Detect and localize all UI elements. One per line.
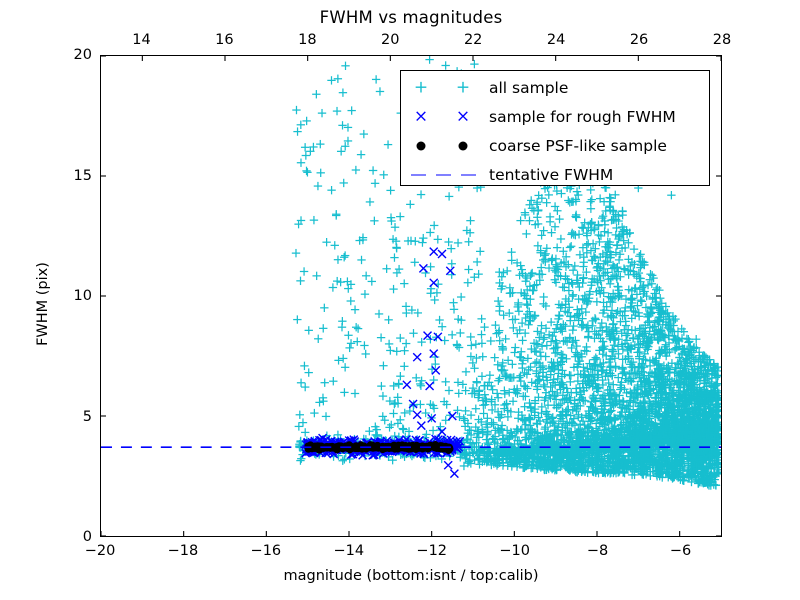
plus-marker-icon: +: [456, 79, 470, 96]
x-tick-top: 14: [132, 32, 150, 48]
y-tick: 10: [54, 288, 92, 304]
y-tick: 5: [54, 409, 92, 425]
x-tick-bottom: −8: [587, 543, 608, 559]
legend-marker-group: [401, 131, 489, 160]
y-axis-label: FWHM (pix): [35, 214, 51, 394]
legend-label-all-sample: all sample: [489, 79, 568, 97]
dashed-line-icon: [461, 174, 476, 175]
dashed-line-icon: [436, 174, 451, 175]
y-tick: 20: [54, 47, 92, 63]
legend-item-tentative-fwhm[interactable]: tentative FWHM: [401, 160, 709, 189]
legend-label-tentative-fwhm: tentative FWHM: [489, 166, 613, 184]
plus-marker-icon: +: [414, 79, 428, 96]
legend-item-all-sample[interactable]: + + all sample: [401, 73, 709, 102]
x-tick-top: 24: [547, 32, 565, 48]
x-tick-bottom: −10: [499, 543, 530, 559]
legend-marker-group: × ×: [401, 102, 489, 131]
x-tick-top: 28: [713, 32, 731, 48]
cross-marker-icon: ×: [414, 108, 428, 125]
legend-label-rough-fwhm: sample for rough FWHM: [489, 108, 676, 126]
x-tick-top: 16: [215, 32, 233, 48]
x-tick-bottom: −14: [333, 543, 364, 559]
x-tick-bottom: −6: [670, 543, 691, 559]
cross-marker-icon: ×: [456, 108, 470, 125]
x-tick-bottom: −20: [85, 543, 116, 559]
chart-legend[interactable]: + + all sample × × sample for rough FWHM…: [400, 70, 710, 186]
x-tick-top: 26: [630, 32, 648, 48]
y-tick: 15: [54, 168, 92, 184]
dot-marker-icon: [417, 141, 426, 150]
legend-marker-group: [401, 160, 489, 189]
chart-title: FWHM vs magnitudes: [100, 8, 722, 27]
legend-item-psf-sample[interactable]: coarse PSF-like sample: [401, 131, 709, 160]
dashed-line-icon: [411, 174, 426, 175]
x-tick-bottom: −12: [416, 543, 447, 559]
legend-marker-group: + +: [401, 73, 489, 102]
x-tick-top: 20: [381, 32, 399, 48]
legend-item-rough-fwhm[interactable]: × × sample for rough FWHM: [401, 102, 709, 131]
x-tick-top: 18: [298, 32, 316, 48]
figure-canvas: FWHM vs magnitudes −20−18−16−14−12−10−8−…: [0, 0, 800, 600]
y-tick: 0: [54, 529, 92, 545]
dot-marker-icon: [459, 141, 468, 150]
x-tick-bottom: −18: [168, 543, 199, 559]
x-tick-bottom: −16: [251, 543, 282, 559]
x-axis-label: magnitude (bottom:isnt / top:calib): [100, 568, 722, 584]
x-tick-top: 22: [464, 32, 482, 48]
legend-label-psf-sample: coarse PSF-like sample: [489, 137, 667, 155]
